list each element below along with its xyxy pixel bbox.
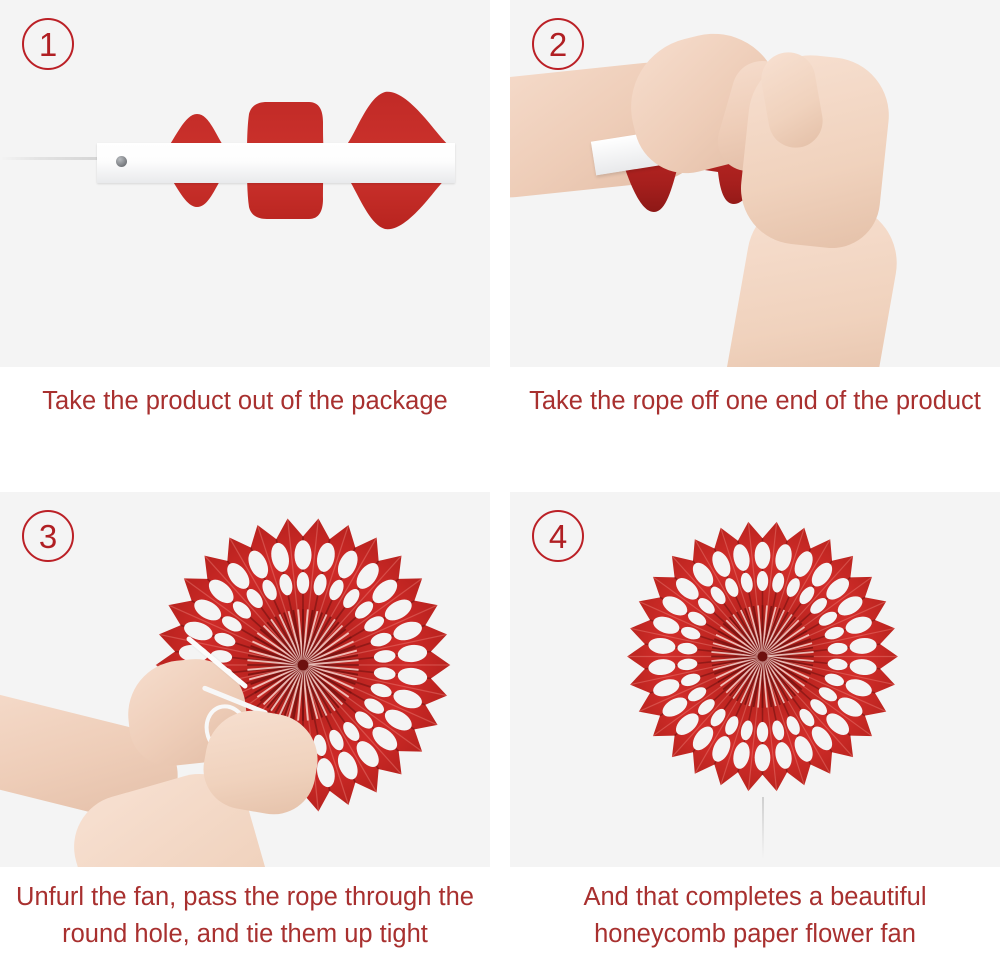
step-number-badge-2: 2	[532, 18, 584, 70]
step-caption-1: Take the product out of the package	[0, 367, 490, 420]
step-panel-1: 1	[0, 0, 490, 420]
step-caption-2: Take the rope off one end of the product	[510, 367, 1000, 420]
step-panel-3: 3 hands-tying-rope-through-u	[0, 492, 490, 953]
step-4-image: 4 finished-honeycomb-paper-flower-fan	[510, 492, 1000, 867]
step-3-image: 3 hands-tying-rope-through-u	[0, 492, 490, 867]
step-caption-3: Unfurl the fan, pass the rope through th…	[0, 867, 490, 953]
step-number-badge-1: 1	[22, 18, 74, 70]
hanging-string-icon	[762, 797, 764, 859]
step-1-image: 1	[0, 0, 490, 367]
step-number-badge-4: 4	[532, 510, 584, 562]
step-panel-2: 2 two-hands-removing-rope Tak	[510, 0, 1000, 420]
metal-eyelet-icon	[116, 156, 127, 167]
folded-fan-illustration	[95, 88, 455, 233]
finished-fan-icon	[620, 514, 905, 799]
step-number-badge-3: 3	[22, 510, 74, 562]
step-caption-4: And that completes a beautiful honeycomb…	[510, 867, 1000, 953]
instruction-sheet: 1	[0, 0, 1000, 956]
white-rope-icon	[0, 157, 110, 160]
white-cardboard-strip	[97, 143, 455, 183]
step-2-image: 2 two-hands-removing-rope	[510, 0, 1000, 367]
step-panel-4: 4 finished-honeycomb-paper-flower-fan An…	[510, 492, 1000, 953]
